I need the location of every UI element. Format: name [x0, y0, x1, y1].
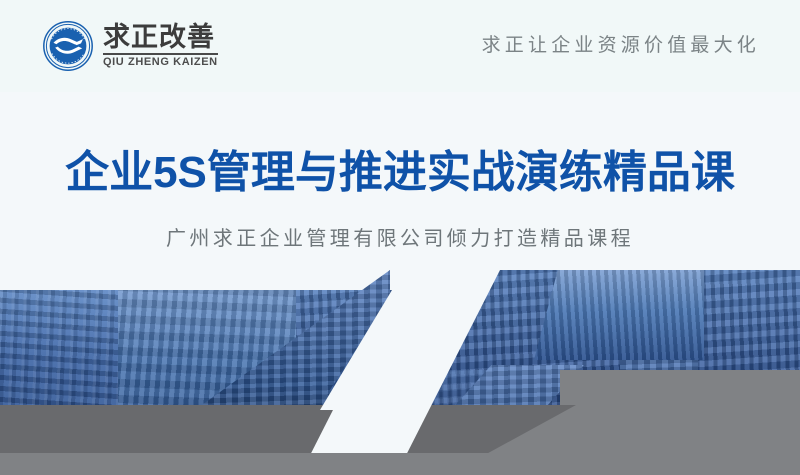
- poster-root: 求正改善 QIU ZHENG KAIZEN 求正让企业资源价值最大化 企业5S管…: [0, 0, 800, 475]
- page-subtitle: 广州求正企业管理有限公司倾力打造精品课程: [0, 222, 800, 251]
- header: 求正改善 QIU ZHENG KAIZEN 求正让企业资源价值最大化: [0, 0, 800, 92]
- page-title: 企业5S管理与推进实战演练精品课: [0, 136, 800, 200]
- brand-name-cn: 求正改善: [103, 23, 218, 51]
- gray-foot-band: [0, 453, 800, 475]
- brand-divider: [103, 53, 218, 55]
- brand-logo-text: 求正改善 QIU ZHENG KAIZEN: [103, 23, 218, 68]
- conference-room-wide-photo: [534, 270, 704, 360]
- qiuzheng-circular-emblem-icon: [42, 20, 94, 72]
- brand-logo[interactable]: 求正改善 QIU ZHENG KAIZEN: [42, 20, 218, 72]
- brand-name-en: QIU ZHENG KAIZEN: [103, 56, 218, 68]
- header-tagline: 求正让企业资源价值最大化: [482, 30, 760, 57]
- photo-collage: [0, 270, 800, 475]
